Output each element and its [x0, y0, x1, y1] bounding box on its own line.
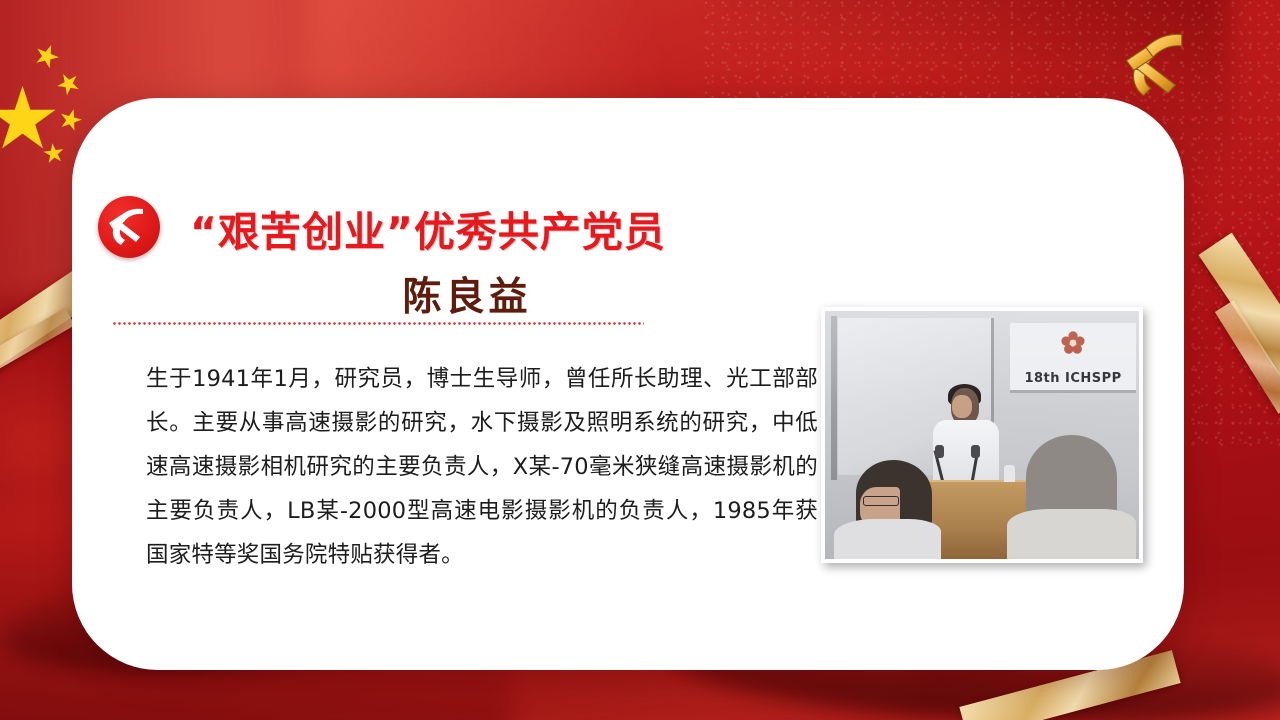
- photo-audience-glasses: [863, 496, 900, 506]
- hammer-sickle-icon: [98, 196, 160, 258]
- person-name: 陈良益: [190, 266, 830, 322]
- plum-blossom-logo: [1060, 330, 1086, 356]
- photo-audience-left-body: [834, 519, 941, 561]
- party-emblem-badge: [98, 196, 160, 258]
- hammer-sickle-emblem: [1118, 28, 1200, 98]
- title-block: “艰苦创业”优秀共产党员 陈良益: [190, 198, 830, 322]
- photo-audience-right-body: [1007, 509, 1136, 561]
- photo-speaker-face: [952, 395, 971, 417]
- photo-banner: 18th ICHSPP: [1010, 323, 1136, 393]
- photo-scene: 18th ICHSPP: [825, 311, 1139, 559]
- slide-root: ★ ★ ★ ★ ★: [0, 0, 1280, 720]
- page-title: “艰苦创业”优秀共产党员: [190, 198, 830, 258]
- photo-banner-text: 18th ICHSPP: [1010, 371, 1136, 386]
- photo-microphone-head: [935, 445, 944, 458]
- photo-microphone-head: [971, 445, 980, 458]
- dotted-divider: [112, 322, 644, 325]
- photo-screen-frame: [831, 316, 837, 480]
- conference-photo: 18th ICHSPP: [821, 307, 1143, 563]
- biography-text: 生于1941年1月，研究员，博士生导师，曾任所长助理、光工部部长。主要从事高速摄…: [146, 357, 818, 577]
- photo-audience-right-hair: [1026, 435, 1117, 519]
